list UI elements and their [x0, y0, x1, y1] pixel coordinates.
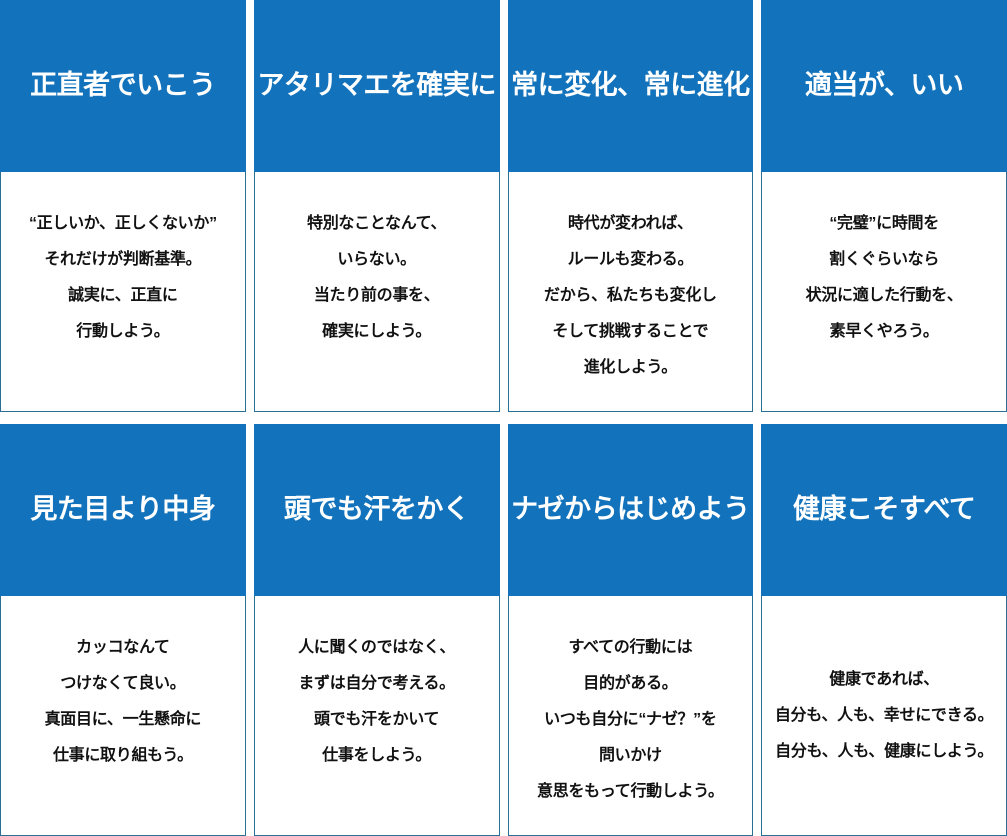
- credo-card-7-title: ナゼからはじめよう: [511, 493, 750, 527]
- credo-card-8-text: 健康であれば、 自分も、人も、幸せにできる。 自分も、人も、健康にしよう。: [775, 662, 994, 770]
- credo-card-6-header: 頭でも汗をかく: [254, 424, 500, 596]
- credo-card-4[interactable]: 適当が、いい “完璧”に時間を 割くぐらいなら 状況に適した行動を、 素早くやろ…: [761, 0, 1007, 412]
- credo-card-2-body: 特別なことなんて、 いらない。 当たり前の事を、 確実にしよう。: [254, 172, 500, 412]
- credo-card-grid: 正直者でいこう “正しいか、正しくないか” それだけが判断基準。 誠実に、正直に…: [0, 0, 1007, 836]
- credo-card-3-header: 常に変化、常に進化: [508, 0, 754, 172]
- credo-card-2-text: 特別なことなんて、 いらない。 当たり前の事を、 確実にしよう。: [307, 206, 446, 401]
- credo-card-6-body: 人に聞くのではなく、 まずは自分で考える。 頭でも汗をかいて 仕事をしよう。: [254, 596, 500, 836]
- credo-card-5-text: カッコなんて つけなくて良い。 真面目に、一生懸命に 仕事に取り組もう。: [45, 630, 202, 825]
- credo-card-3-body: 時代が変われば、 ルールも変わる。 だから、私たちも変化し そして挑戦することで…: [508, 172, 754, 412]
- credo-card-3-text: 時代が変われば、 ルールも変わる。 だから、私たちも変化し そして挑戦することで…: [544, 206, 717, 401]
- credo-card-1-text: “正しいか、正しくないか” それだけが判断基準。 誠実に、正直に 行動しよう。: [29, 206, 217, 401]
- credo-card-6[interactable]: 頭でも汗をかく 人に聞くのではなく、 まずは自分で考える。 頭でも汗をかいて 仕…: [254, 424, 500, 836]
- credo-card-4-body: “完璧”に時間を 割くぐらいなら 状況に適した行動を、 素早くやろう。: [761, 172, 1007, 412]
- credo-card-8-title: 健康こそすべて: [793, 493, 976, 527]
- credo-card-5-title: 見た目より中身: [30, 493, 215, 527]
- credo-card-3-title: 常に変化、常に進化: [511, 69, 750, 103]
- credo-card-7-body: すべての行動には 目的がある。 いつも自分に“ナゼ？”を 問いかけ 意思をもって…: [508, 596, 754, 836]
- credo-card-4-text: “完璧”に時間を 割くぐらいなら 状況に適した行動を、 素早くやろう。: [806, 206, 963, 401]
- credo-card-8-header: 健康こそすべて: [761, 424, 1007, 596]
- credo-card-6-text: 人に聞くのではなく、 まずは自分で考える。 頭でも汗をかいて 仕事をしよう。: [298, 630, 455, 825]
- credo-card-4-title: 適当が、いい: [805, 69, 963, 103]
- credo-card-1-header: 正直者でいこう: [0, 0, 246, 172]
- credo-card-2[interactable]: アタリマエを確実に 特別なことなんて、 いらない。 当たり前の事を、 確実にしよ…: [254, 0, 500, 412]
- credo-card-5-body: カッコなんて つけなくて良い。 真面目に、一生懸命に 仕事に取り組もう。: [0, 596, 246, 836]
- credo-card-7[interactable]: ナゼからはじめよう すべての行動には 目的がある。 いつも自分に“ナゼ？”を 問…: [508, 424, 754, 836]
- credo-card-1-body: “正しいか、正しくないか” それだけが判断基準。 誠実に、正直に 行動しよう。: [0, 172, 246, 412]
- credo-card-7-header: ナゼからはじめよう: [508, 424, 754, 596]
- credo-card-8-body: 健康であれば、 自分も、人も、幸せにできる。 自分も、人も、健康にしよう。: [761, 596, 1007, 836]
- credo-card-2-title: アタリマエを確実に: [257, 69, 496, 103]
- credo-card-2-header: アタリマエを確実に: [254, 0, 500, 172]
- credo-card-6-title: 頭でも汗をかく: [284, 493, 470, 527]
- credo-card-8[interactable]: 健康こそすべて 健康であれば、 自分も、人も、幸せにできる。 自分も、人も、健康…: [761, 424, 1007, 836]
- credo-card-5-header: 見た目より中身: [0, 424, 246, 596]
- credo-card-5[interactable]: 見た目より中身 カッコなんて つけなくて良い。 真面目に、一生懸命に 仕事に取り…: [0, 424, 246, 836]
- credo-card-1-title: 正直者でいこう: [30, 69, 216, 103]
- credo-card-7-text: すべての行動には 目的がある。 いつも自分に“ナゼ？”を 問いかけ 意思をもって…: [537, 630, 724, 825]
- credo-card-4-header: 適当が、いい: [761, 0, 1007, 172]
- credo-card-3[interactable]: 常に変化、常に進化 時代が変われば、 ルールも変わる。 だから、私たちも変化し …: [508, 0, 754, 412]
- credo-card-1[interactable]: 正直者でいこう “正しいか、正しくないか” それだけが判断基準。 誠実に、正直に…: [0, 0, 246, 412]
